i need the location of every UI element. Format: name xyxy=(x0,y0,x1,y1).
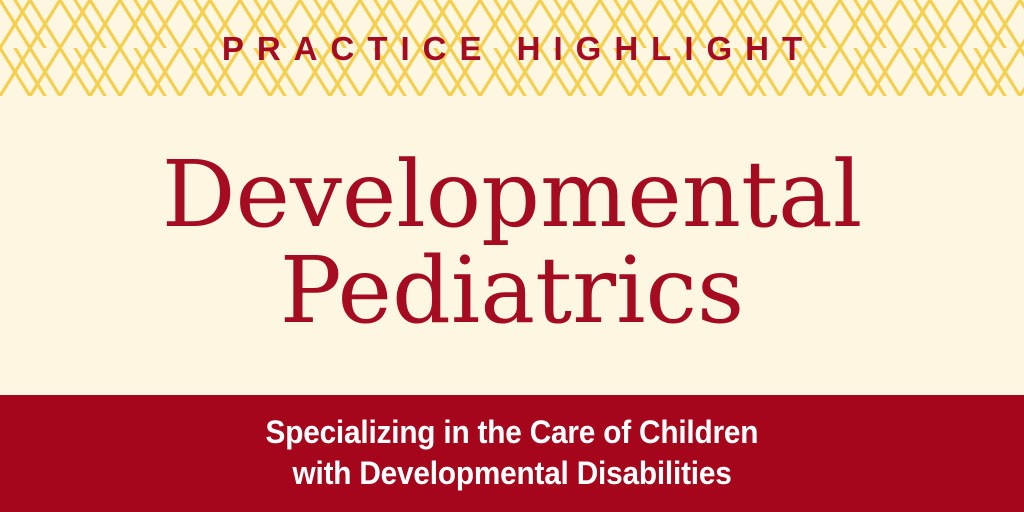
title-block: Developmental Pediatrics xyxy=(0,96,1024,395)
eyebrow-container: PRACTICE HIGHLIGHT xyxy=(0,0,1024,96)
page-title-line-1: Developmental xyxy=(162,148,863,242)
page-title-line-2: Pediatrics xyxy=(280,244,745,338)
header-pattern-band: PRACTICE HIGHLIGHT xyxy=(0,0,1024,96)
subtitle-banner: Specializing in the Care of Children wit… xyxy=(0,395,1024,512)
eyebrow-label: PRACTICE HIGHLIGHT xyxy=(209,32,815,65)
subtitle-line-1: Specializing in the Care of Children xyxy=(266,412,759,452)
practice-highlight-poster: PRACTICE HIGHLIGHT Developmental Pediatr… xyxy=(0,0,1024,512)
subtitle-line-2: with Developmental Disabilities xyxy=(292,453,731,493)
